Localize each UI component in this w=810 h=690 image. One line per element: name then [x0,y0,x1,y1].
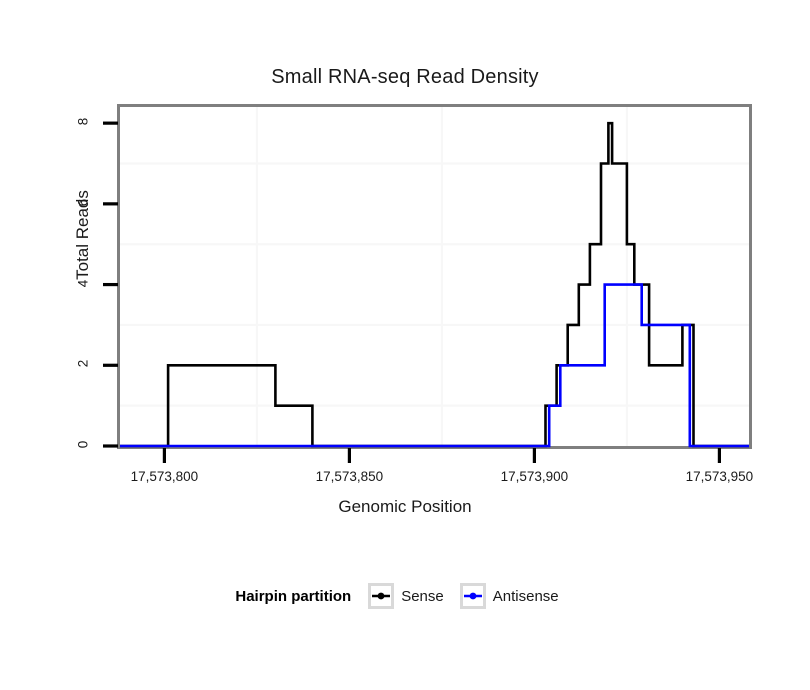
legend-entry-sense[interactable]: Sense [368,583,444,609]
chart-figure: Small RNA-seq Read Density 17,573,80017,… [0,0,810,690]
legend-title: Hairpin partition [235,588,351,605]
legend-label-antisense: Antisense [493,588,559,605]
x-tick-label: 17,573,950 [659,469,779,484]
x-tick-label: 17,573,850 [289,469,409,484]
line-point-icon [371,586,391,606]
legend-key-sense [368,583,394,609]
y-axis-label: Total Reads [73,135,93,335]
y-tick-label: 0 [76,434,91,456]
grid-lines [119,106,751,448]
legend-entry-antisense[interactable]: Antisense [460,583,559,609]
y-tick-label: 2 [76,353,91,375]
panel-border [119,106,751,448]
series-line-sense [120,123,749,446]
y-tick-label: 8 [76,111,91,133]
line-point-icon [463,586,483,606]
x-tick-label: 17,573,900 [474,469,594,484]
x-tick-label: 17,573,800 [104,469,224,484]
x-axis-label: Genomic Position [0,497,810,517]
legend-label-sense: Sense [401,588,444,605]
legend-key-antisense [460,583,486,609]
chart-legend: Hairpin partition Sense Antisense [0,583,810,609]
